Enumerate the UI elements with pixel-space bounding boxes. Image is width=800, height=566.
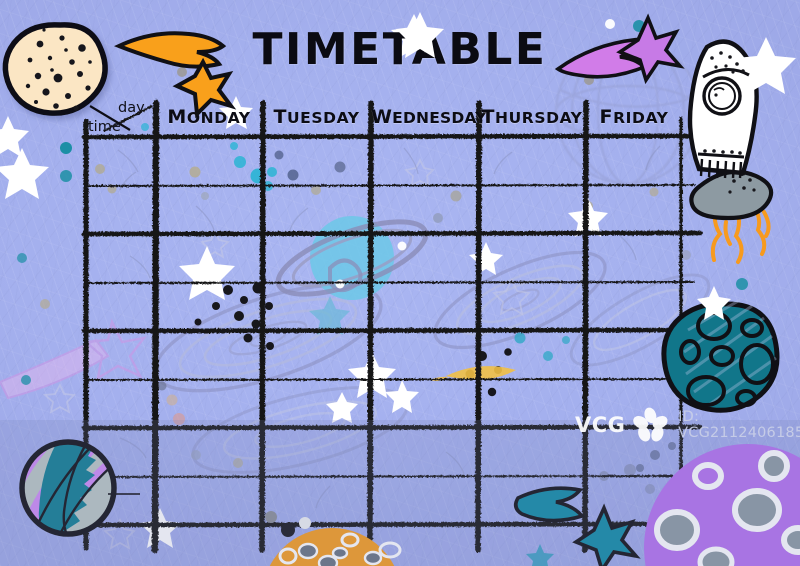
orange-crater-planet: [262, 511, 402, 566]
teal-small-star: [526, 544, 554, 566]
cratered-moon: [5, 25, 130, 130]
rocket-base: [691, 172, 771, 218]
striped-planet: [10, 420, 140, 546]
foreground-decorations: [0, 0, 800, 566]
purple-shooting-star: [558, 18, 680, 80]
cyan-dot: [60, 142, 72, 154]
orange-shooting-star: [119, 33, 231, 114]
timetable-poster: TIMETABLE day time MONDAY TUESDAY WEDNES…: [0, 0, 800, 566]
